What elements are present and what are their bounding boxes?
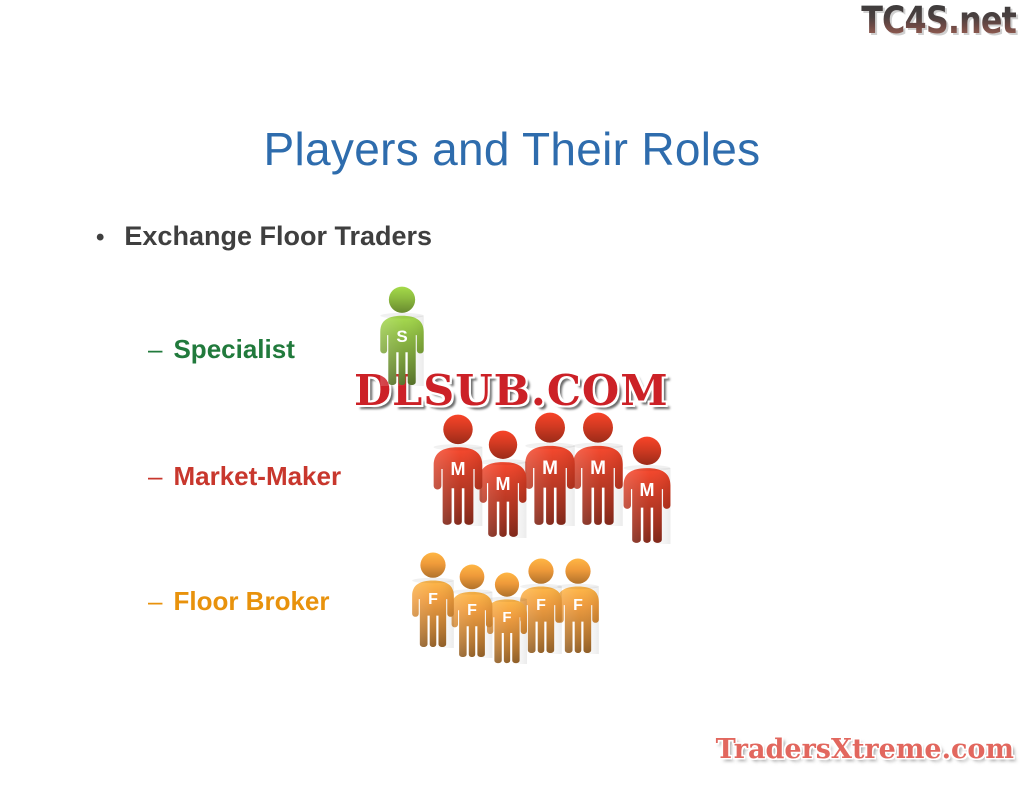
bullet-marker-icon: • — [96, 226, 104, 250]
sub-bullet-label-floor-broker: Floor Broker — [173, 586, 329, 617]
person-icon-m: M — [426, 414, 490, 526]
tc4s-logo: TC4S.net — [861, 2, 1016, 41]
pictogram-group-market-maker: M M — [424, 414, 684, 544]
sub-bullet-floor-broker: – Floor Broker — [148, 586, 330, 617]
sub-bullet-market-maker: – Market-Maker — [148, 461, 341, 492]
person-icon-s: S — [370, 286, 434, 386]
bullet-exchange-floor-traders: • Exchange Floor Traders — [96, 221, 432, 252]
pictogram-group-floor-broker: F F — [404, 556, 604, 664]
dash-marker-icon: – — [148, 334, 162, 365]
dash-marker-icon: – — [148, 586, 162, 617]
sub-bullet-specialist: – Specialist — [148, 334, 295, 365]
tradersxtreme-logo: TradersXtreme.com — [716, 734, 1014, 765]
bullet-label: Exchange Floor Traders — [124, 221, 432, 252]
sub-bullet-label-market-maker: Market-Maker — [173, 461, 341, 492]
person-icon-f: F — [404, 552, 462, 648]
dash-marker-icon: – — [148, 461, 162, 492]
slide-title: Players and Their Roles — [0, 122, 1024, 176]
presentation-slide: TC4S.net TC4S.net Players and Their Role… — [0, 0, 1024, 791]
sub-bullet-label-specialist: Specialist — [173, 334, 294, 365]
pictogram-group-specialist: S — [364, 286, 440, 388]
